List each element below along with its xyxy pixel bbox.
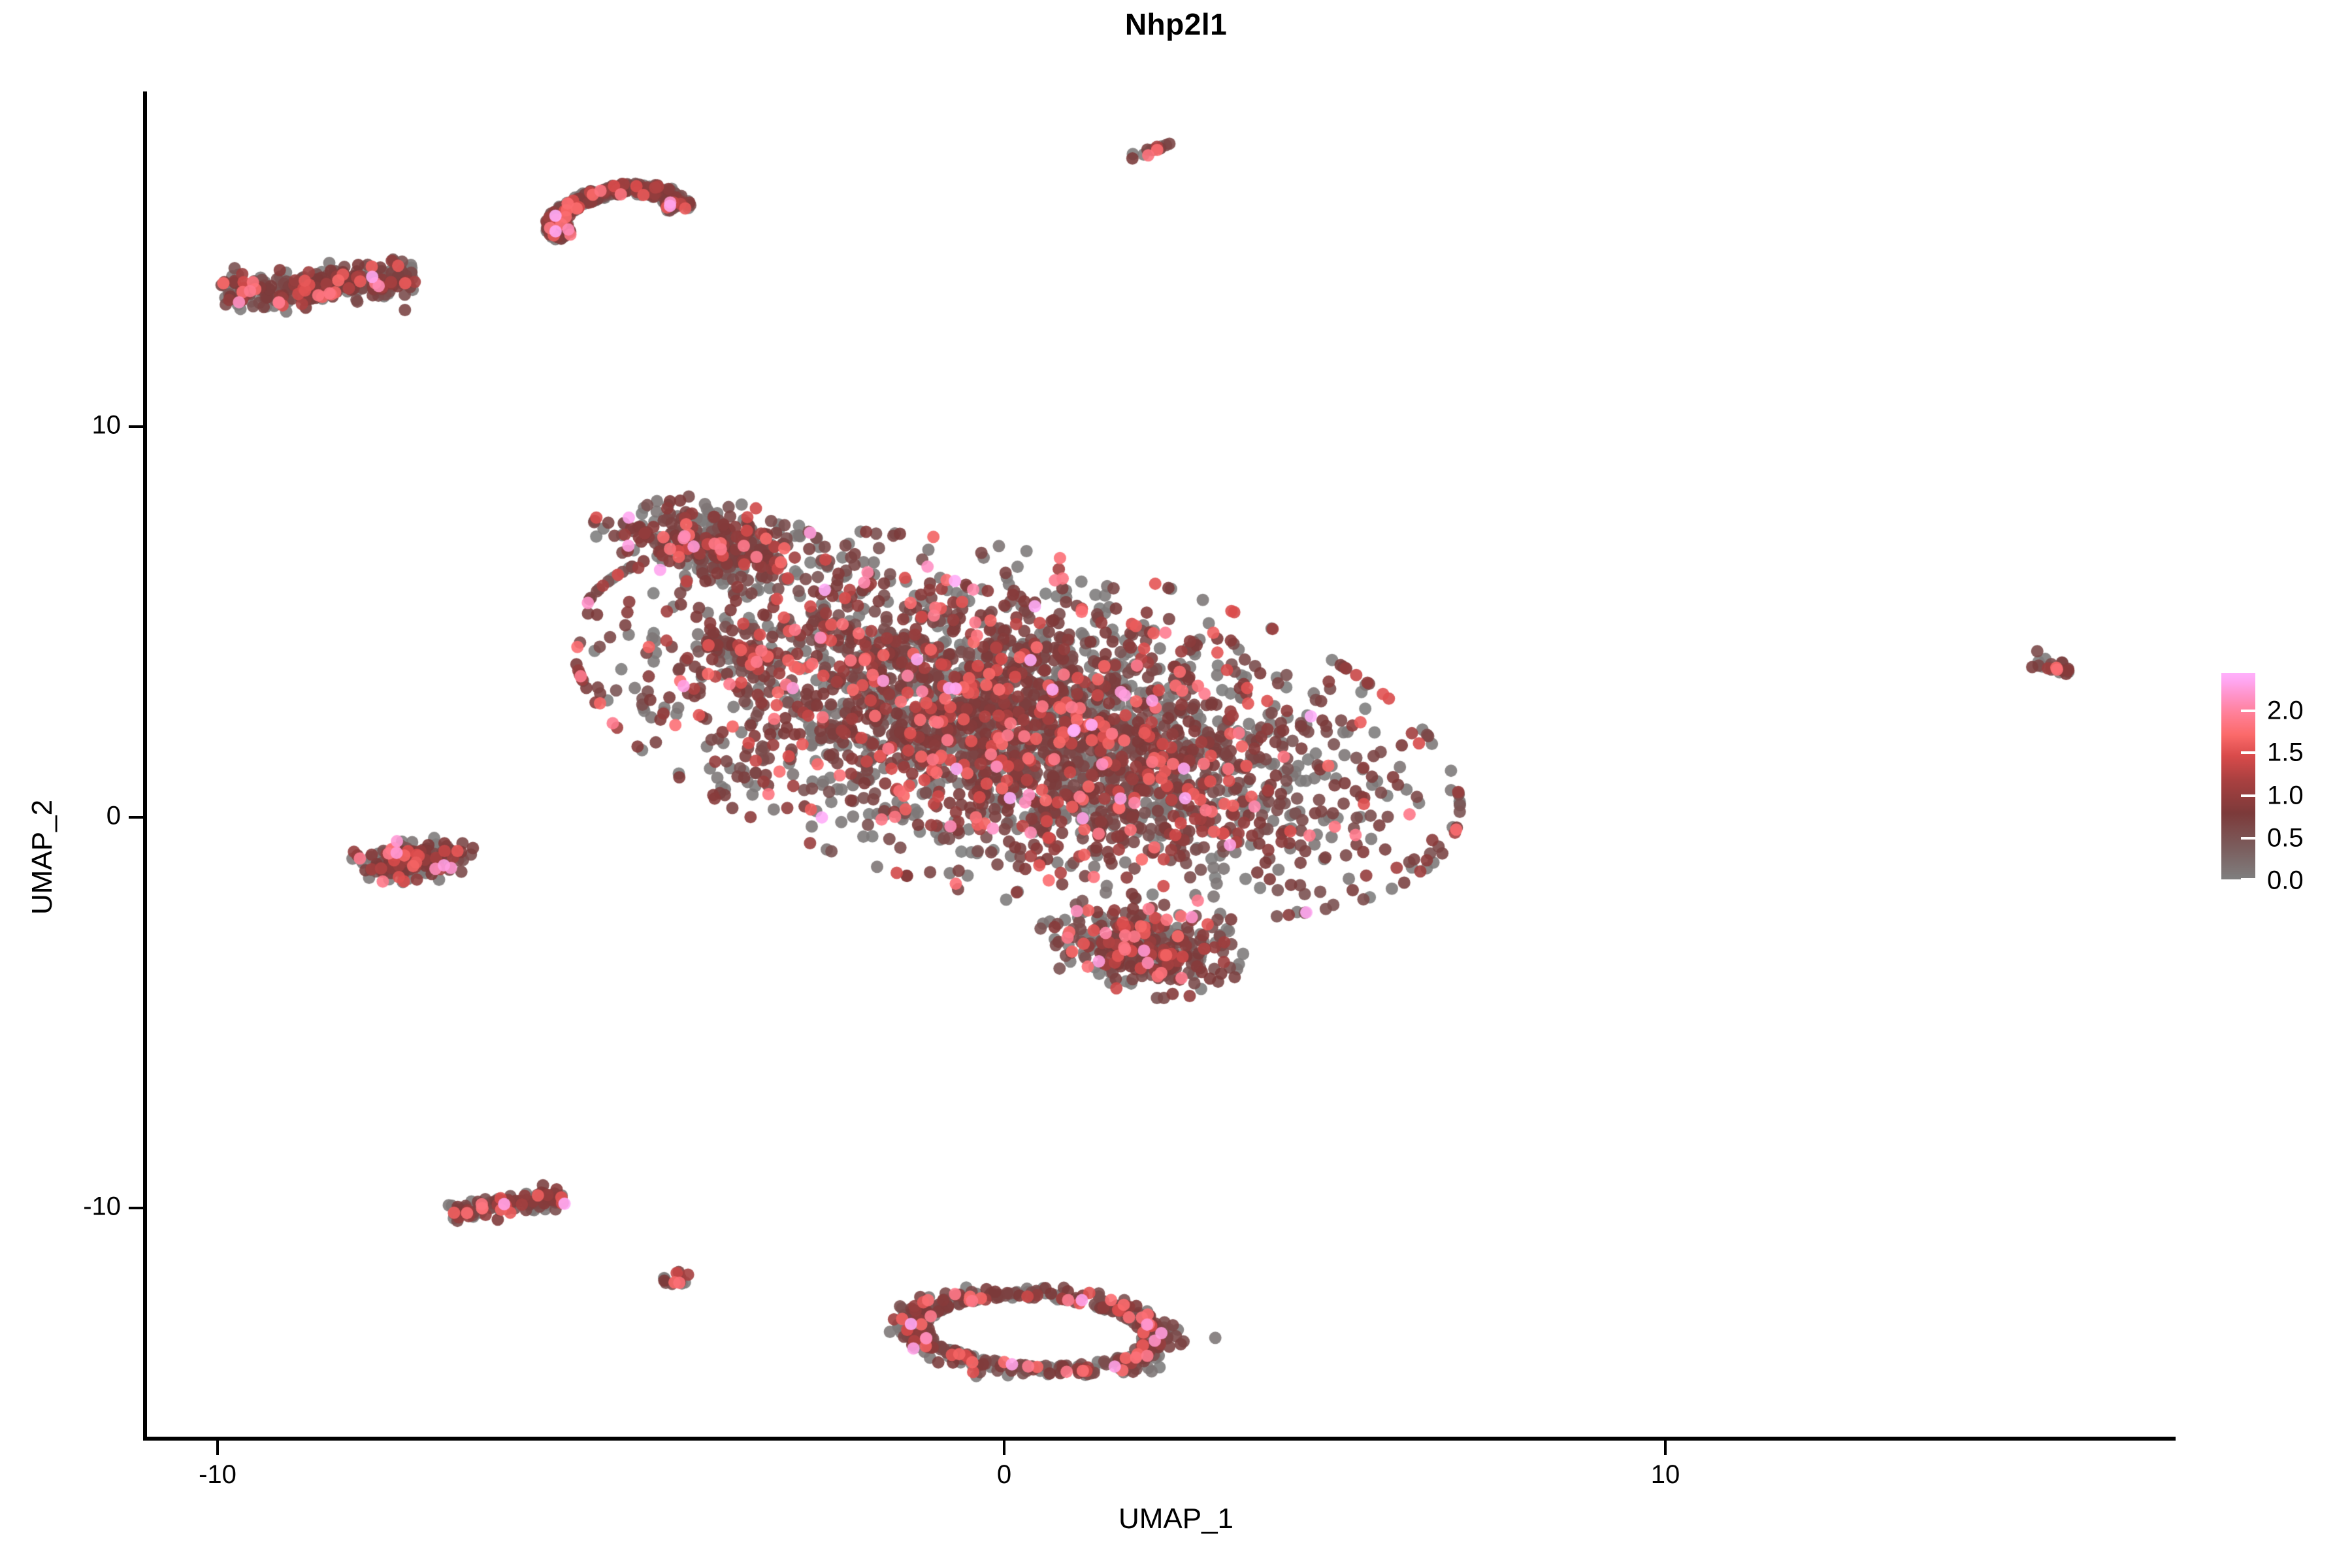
page-title: Nhp2l1 (0, 7, 2352, 42)
legend-tick-2 (2241, 794, 2255, 797)
legend-label-3: 0.5 (2267, 824, 2304, 853)
x-tick-label-2: 10 (1651, 1460, 1680, 1490)
y-tick-mark-1 (129, 816, 143, 819)
color-legend: 2.0 1.5 1.0 0.5 0.0 (2221, 673, 2352, 889)
y-tick-mark-2 (129, 1207, 143, 1209)
x-tick-mark-0 (216, 1441, 219, 1455)
x-tick-mark-1 (1003, 1441, 1005, 1455)
y-tick-label-0: 10 (92, 411, 122, 440)
legend-label-2: 1.0 (2267, 781, 2304, 811)
legend-tick-1 (2241, 751, 2255, 754)
legend-label-4: 0.0 (2267, 866, 2304, 896)
x-axis-label: UMAP_1 (0, 1503, 2352, 1535)
y-tick-mark-0 (129, 425, 143, 428)
x-tick-label-0: -10 (199, 1460, 237, 1490)
legend-label-1: 1.5 (2267, 738, 2304, 768)
y-tick-label-2: -10 (83, 1192, 121, 1222)
x-tick-mark-2 (1664, 1441, 1667, 1455)
legend-tick-4 (2241, 878, 2255, 881)
scatter-canvas (144, 91, 2176, 1439)
y-tick-label-1: 0 (106, 802, 121, 831)
legend-tick-3 (2241, 837, 2255, 840)
legend-colorbar (2221, 673, 2255, 879)
x-tick-label-1: 0 (997, 1460, 1011, 1490)
plot-panel (144, 91, 2176, 1439)
y-axis-label: UMAP_2 (26, 800, 59, 915)
legend-label-0: 2.0 (2267, 696, 2304, 726)
feature-plot-figure: Nhp2l1 -10 0 10 10 0 -10 UMAP_1 UMAP_2 2… (0, 0, 2352, 1568)
legend-tick-0 (2241, 710, 2255, 712)
